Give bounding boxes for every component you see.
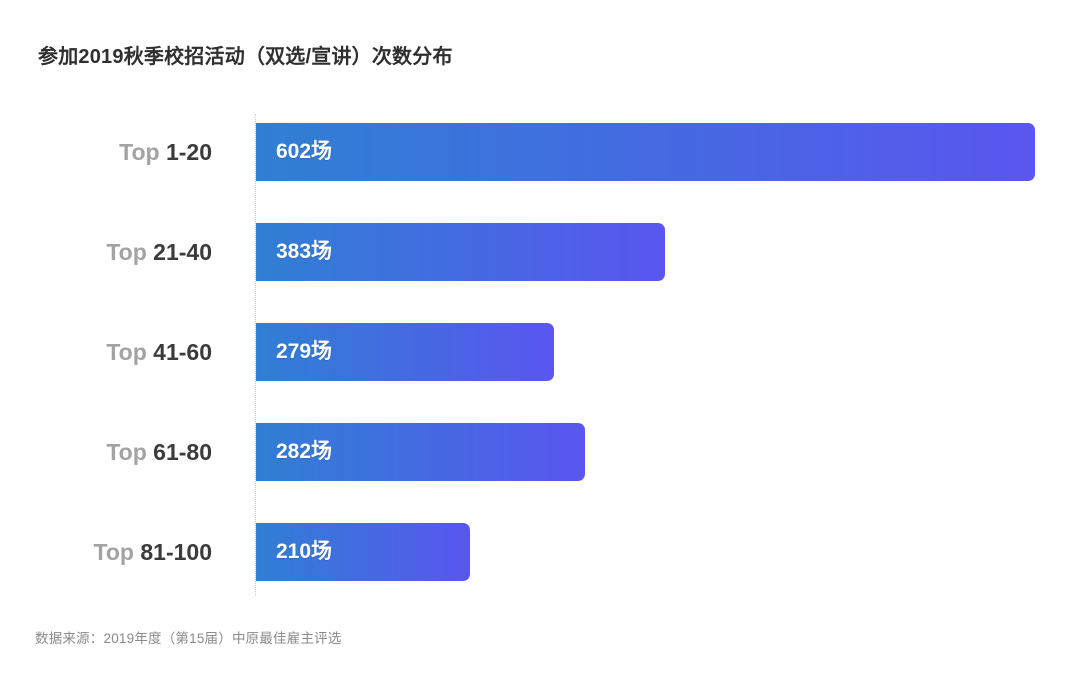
bar-value-label: 282场: [276, 423, 332, 481]
category-range: 21-40: [153, 239, 212, 265]
bar-track: 602场: [256, 123, 1035, 181]
bar-track: 279场: [256, 323, 554, 381]
bar[interactable]: 383场: [256, 223, 665, 281]
bar-value-label: 602场: [276, 123, 332, 181]
category-label: Top 61-80: [0, 423, 212, 481]
chart-plot-area: Top 1-20 602场 Top 21-40 383场: [0, 100, 1080, 600]
page-title: 参加2019秋季校招活动（双选/宣讲）次数分布: [38, 40, 453, 69]
category-prefix: Top: [106, 439, 153, 465]
category-range: 81-100: [140, 539, 212, 565]
bar-track: 210场: [256, 523, 470, 581]
category-label: Top 41-60: [0, 323, 212, 381]
bar-row[interactable]: Top 61-80 282场: [0, 423, 1080, 481]
bar-row[interactable]: Top 81-100 210场: [0, 523, 1080, 581]
category-range: 1-20: [166, 139, 212, 165]
bar[interactable]: 279场: [256, 323, 554, 381]
bar-row[interactable]: Top 1-20 602场: [0, 123, 1080, 181]
category-range: 61-80: [153, 439, 212, 465]
bar-row[interactable]: Top 41-60 279场: [0, 323, 1080, 381]
category-prefix: Top: [94, 539, 141, 565]
bar-value-label: 279场: [276, 323, 332, 381]
bar[interactable]: 602场: [256, 123, 1035, 181]
bar[interactable]: 282场: [256, 423, 585, 481]
bar-value-label: 210场: [276, 523, 332, 581]
bar-value-label: 383场: [276, 223, 332, 281]
category-prefix: Top: [106, 339, 153, 365]
bar-row[interactable]: Top 21-40 383场: [0, 223, 1080, 281]
chart-page: 参加2019秋季校招活动（双选/宣讲）次数分布 Top 1-20 602场: [0, 0, 1080, 681]
category-range: 41-60: [153, 339, 212, 365]
bar[interactable]: 210场: [256, 523, 470, 581]
bar-track: 383场: [256, 223, 665, 281]
bar-rows: Top 1-20 602场 Top 21-40 383场: [0, 100, 1080, 600]
category-label: Top 21-40: [0, 223, 212, 281]
category-label: Top 1-20: [0, 123, 212, 181]
category-prefix: Top: [106, 239, 153, 265]
source-note: 数据来源：2019年度（第15届）中原最佳雇主评选: [35, 627, 342, 647]
category-prefix: Top: [119, 139, 166, 165]
category-label: Top 81-100: [0, 523, 212, 581]
bar-track: 282场: [256, 423, 585, 481]
